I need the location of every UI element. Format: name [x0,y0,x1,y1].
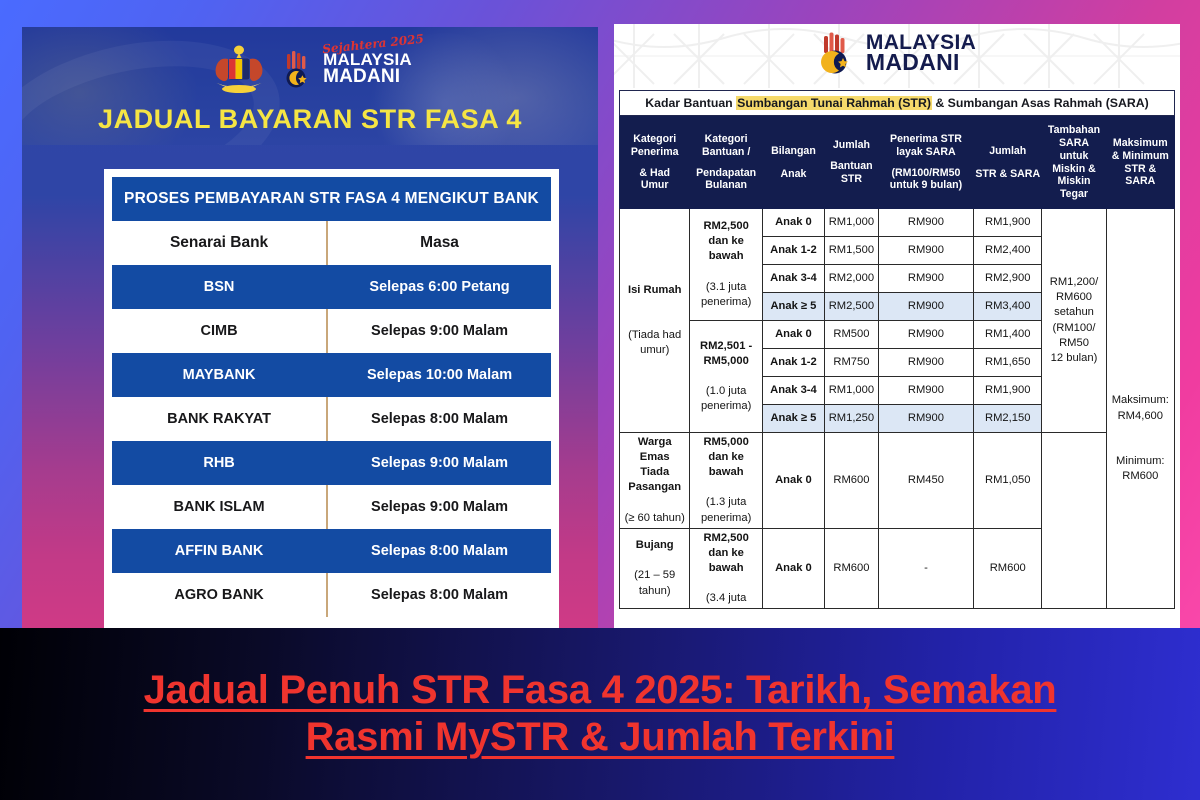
table-row: Isi Rumah(Tiada had umur)RM2,500dan keba… [620,209,1175,237]
bank-schedule-card: PROSES PEMBAYARAN STR FASA 4 MENGIKUT BA… [104,169,559,628]
hdr-line: & Had [621,167,688,180]
bank-name-cell: RHB [112,441,327,485]
col-tambahan-sara: Tambahan SARA untuk Miskin & Miskin Tega… [1042,117,1106,209]
cell-jumlah-bantuan-str: RM750 [825,349,879,377]
str-sara-rate-table: Kategori Penerima & Had Umur Kategori Ba… [619,116,1175,609]
cell-jumlah-bantuan-str: RM1,000 [825,377,879,405]
cell-penerima-layak-sara: RM900 [878,265,973,293]
cell-jumlah-str-sara: RM1,050 [974,433,1042,529]
rate-title-pre: Kadar Bantuan [645,96,736,110]
cell-kategori-bantuan: RM2,501 -RM5,000(1.0 juta penerima) [690,321,762,433]
jata-negara-icon [208,43,270,95]
poster-canvas: Sejahtera 2025 MALAYSIA MADANI [0,0,1200,800]
hdr-line: STR [826,173,877,186]
cell-kategori-bantuan: RM2,500dan kebawah(3.4 juta [690,528,762,609]
cell-jumlah-str-sara: RM3,400 [974,293,1042,321]
bank-time-cell: Selepas 8:00 Malam [327,529,551,573]
bank-card-header: PROSES PEMBAYARAN STR FASA 4 MENGIKUT BA… [112,177,551,221]
cell-tambahan-sara: RM1,200/RM600setahun(RM100/RM5012 bulan) [1042,209,1106,433]
hdr-line: Umur [621,179,688,192]
cell-jumlah-str-sara: RM600 [974,528,1042,609]
left-panel: Sejahtera 2025 MALAYSIA MADANI [22,27,598,628]
table-row: BANK RAKYATSelepas 8:00 Malam [112,397,551,441]
rate-title-highlight: Sumbangan Tunai Rahmah (STR) [736,96,932,110]
cell-bilangan-anak: Anak ≥ 5 [762,405,824,433]
hdr-line: Anak [764,168,823,181]
cell-bilangan-anak: Anak 0 [762,209,824,237]
col-bilangan-anak: Bilangan Anak [762,117,824,209]
right-panel: MALAYSIA MADANI Kadar Bantuan Sumbangan … [614,24,1180,628]
hdr-line: Bulanan [691,179,760,192]
cell-bilangan-anak: Anak 0 [762,433,824,529]
column-header-masa: Masa [327,221,551,265]
cell-bilangan-anak: Anak 3-4 [762,265,824,293]
cell-bilangan-anak: Anak 0 [762,321,824,349]
bank-name-cell: CIMB [112,309,327,353]
hdr-line: Maksimum [1108,137,1173,150]
cell-jumlah-bantuan-str: RM600 [825,528,879,609]
hdr-line: Penerima STR [880,133,972,146]
madani-lockup: Sejahtera 2025 MALAYSIA MADANI [282,50,412,88]
hdr-line: & Minimum [1108,150,1173,163]
hdr-line: Tegar [1043,188,1104,201]
right-logo: MALAYSIA MADANI [614,24,1180,75]
madani-mark-icon [282,50,316,88]
cell-penerima-layak-sara: RM450 [878,433,973,529]
cell-jumlah-bantuan-str: RM1,250 [825,405,879,433]
madani-mark-icon [818,31,858,75]
cell-jumlah-bantuan-str: RM2,500 [825,293,879,321]
table-row: MAYBANKSelepas 10:00 Malam [112,353,551,397]
cell-maksimum-minimum: Maksimum:RM4,600Minimum:RM600 [1106,209,1174,609]
col-kategori-bantuan: Kategori Bantuan / Pendapatan Bulanan [690,117,762,209]
table-row: RHBSelepas 9:00 Malam [112,441,551,485]
table-row: CIMBSelepas 9:00 Malam [112,309,551,353]
hdr-line: STR & SARA [975,168,1040,181]
cell-jumlah-bantuan-str: RM1,000 [825,209,879,237]
cell-penerima-layak-sara: RM900 [878,349,973,377]
hdr-line: Jumlah [975,145,1040,158]
bank-name-cell: MAYBANK [112,353,327,397]
cell-tambahan-sara-empty [1042,433,1106,609]
hdr-line: STR & [1108,163,1173,176]
bank-time-cell: Selepas 8:00 Malam [327,573,551,617]
bank-time-cell: Selepas 6:00 Petang [327,265,551,309]
cell-jumlah-bantuan-str: RM1,500 [825,237,879,265]
table-row: AFFIN BANKSelepas 8:00 Malam [112,529,551,573]
cell-jumlah-str-sara: RM1,650 [974,349,1042,377]
hdr-line: untuk [1043,150,1104,163]
madani-wordmark: MALAYSIA MADANI [323,52,412,85]
bank-time-cell: Selepas 9:00 Malam [327,441,551,485]
cell-penerima-layak-sara: RM900 [878,293,973,321]
col-jumlah-bantuan-str: Jumlah Bantuan STR [825,117,879,209]
hdr-line: Miskin [1043,175,1104,188]
bank-time-cell: Selepas 8:00 Malam [327,397,551,441]
rate-table-header-row: Kategori Penerima & Had Umur Kategori Ba… [620,117,1175,209]
bank-name-cell: BANK ISLAM [112,485,327,529]
bank-time-cell: Selepas 9:00 Malam [327,485,551,529]
hdr-line: Jumlah [826,139,877,152]
cell-penerima-layak-sara: - [878,528,973,609]
bank-name-cell: BANK RAKYAT [112,397,327,441]
left-logo-row: Sejahtera 2025 MALAYSIA MADANI [22,27,598,95]
cell-bilangan-anak: Anak ≥ 5 [762,293,824,321]
banner-line-2: Rasmi MySTR & Jumlah Terkini [306,715,895,760]
hdr-line: layak SARA [880,146,972,159]
rate-table-title: Kadar Bantuan Sumbangan Tunai Rahmah (ST… [619,90,1175,116]
page-title: JADUAL BAYARAN STR FASA 4 [22,104,598,135]
col-maksimum-minimum: Maksimum & Minimum STR & SARA [1106,117,1174,209]
hdr-line: SARA [1043,137,1104,150]
hdr-line: Bantuan / [691,146,760,159]
hdr-line: SARA [1108,175,1173,188]
table-header-row: Senarai BankMasa [112,221,551,265]
hdr-line: untuk 9 bulan) [880,179,972,192]
cell-penerima-layak-sara: RM900 [878,237,973,265]
bank-time-cell: Selepas 10:00 Malam [327,353,551,397]
cell-jumlah-bantuan-str: RM600 [825,433,879,529]
cell-jumlah-bantuan-str: RM500 [825,321,879,349]
hdr-line: (RM100/RM50 [880,167,972,180]
right-hero-banner: MALAYSIA MADANI [614,24,1180,88]
cell-kategori-penerima: Isi Rumah(Tiada had umur) [620,209,690,433]
column-header-bank: Senarai Bank [112,221,327,265]
table-row: BSNSelepas 6:00 Petang [112,265,551,309]
bank-time-cell: Selepas 9:00 Malam [327,309,551,353]
cell-bilangan-anak: Anak 3-4 [762,377,824,405]
cell-kategori-bantuan: RM5,000dan kebawah(1.3 juta penerima) [690,433,762,529]
table-row: BANK ISLAMSelepas 9:00 Malam [112,485,551,529]
cell-jumlah-str-sara: RM2,400 [974,237,1042,265]
bottom-title-banner: Jadual Penuh STR Fasa 4 2025: Tarikh, Se… [0,628,1200,800]
hdr-line: Miskin & [1043,163,1104,176]
col-jumlah-str-sara: Jumlah STR & SARA [974,117,1042,209]
cell-jumlah-str-sara: RM1,400 [974,321,1042,349]
madani-wordmark: MALAYSIA MADANI [866,33,976,73]
cell-kategori-bantuan: RM2,500dan kebawah(3.1 juta penerima) [690,209,762,321]
banner-line-1: Jadual Penuh STR Fasa 4 2025: Tarikh, Se… [144,668,1057,713]
brand-line-2: MADANI [323,68,412,86]
bank-schedule-table: Senarai BankMasaBSNSelepas 6:00 PetangCI… [112,221,551,617]
cell-penerima-layak-sara: RM900 [878,377,973,405]
hdr-line: Kategori [691,133,760,146]
cell-jumlah-str-sara: RM2,900 [974,265,1042,293]
hdr-line: Tambahan [1043,124,1104,137]
bank-name-cell: AGRO BANK [112,573,327,617]
cell-penerima-layak-sara: RM900 [878,405,973,433]
table-row: AGRO BANKSelepas 8:00 Malam [112,573,551,617]
cell-kategori-penerima: Bujang(21 – 59 tahun) [620,528,690,609]
hdr-line: Kategori [621,133,688,146]
hdr-line: Pendapatan [691,167,760,180]
cell-bilangan-anak: Anak 1-2 [762,349,824,377]
cell-kategori-penerima: WargaEmasTiadaPasangan(≥ 60 tahun) [620,433,690,529]
cell-bilangan-anak: Anak 0 [762,528,824,609]
cell-jumlah-bantuan-str: RM2,000 [825,265,879,293]
table-row: WargaEmasTiadaPasangan(≥ 60 tahun)RM5,00… [620,433,1175,529]
hdr-line: Bilangan [764,145,823,158]
bank-name-cell: BSN [112,265,327,309]
cell-penerima-layak-sara: RM900 [878,321,973,349]
rate-title-post: & Sumbangan Asas Rahmah (SARA) [932,96,1149,110]
col-penerima-str-layak-sara: Penerima STR layak SARA (RM100/RM50 untu… [878,117,973,209]
cell-jumlah-str-sara: RM1,900 [974,377,1042,405]
bank-name-cell: AFFIN BANK [112,529,327,573]
hdr-line: Bantuan [826,160,877,173]
cell-jumlah-str-sara: RM1,900 [974,209,1042,237]
left-hero-banner: Sejahtera 2025 MALAYSIA MADANI [22,27,598,145]
brand-line-2: MADANI [866,52,976,73]
cell-bilangan-anak: Anak 1-2 [762,237,824,265]
cell-penerima-layak-sara: RM900 [878,209,973,237]
col-kategori-penerima: Kategori Penerima & Had Umur [620,117,690,209]
hdr-line: Penerima [621,146,688,159]
cell-jumlah-str-sara: RM2,150 [974,405,1042,433]
